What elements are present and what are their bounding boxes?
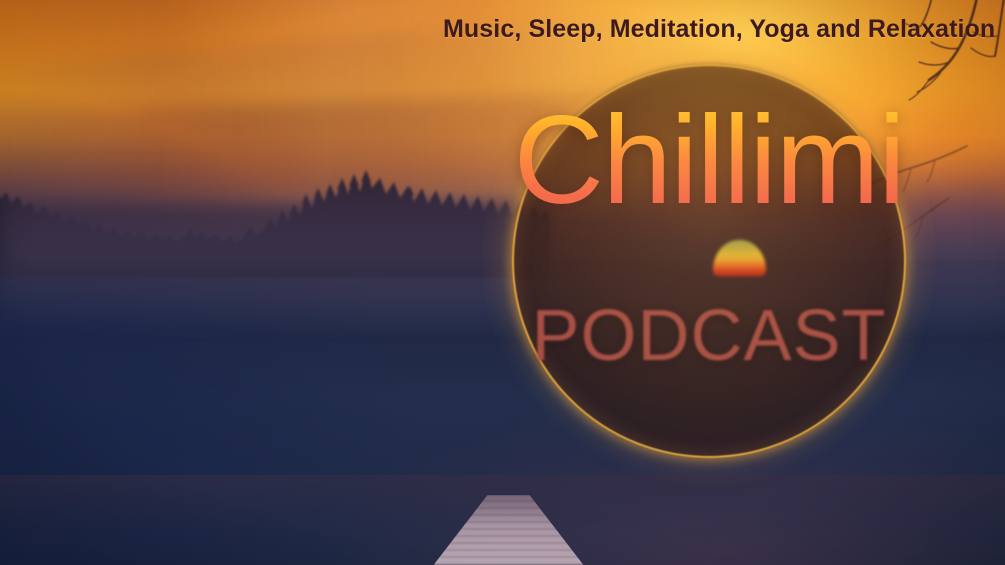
wooden-dock (0, 475, 1005, 565)
media-type-label: PODCAST (531, 300, 886, 372)
logo-badge: Chillimi PODCAST (512, 64, 906, 458)
brand-wordmark: Chillimi (514, 98, 905, 223)
dock-planks (434, 495, 584, 565)
tagline: Music, Sleep, Meditation, Yoga and Relax… (443, 15, 995, 44)
podcast-cover-artwork: Music, Sleep, Meditation, Yoga and Relax… (0, 0, 1005, 565)
